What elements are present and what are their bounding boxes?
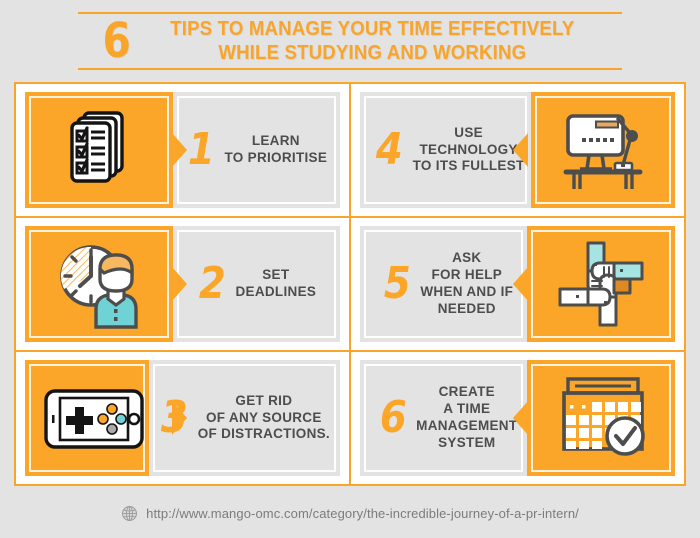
tip-card-3[interactable]: 3 GET RID OF ANY SOURCE OF DISTRACTIONS. <box>25 360 340 476</box>
smartphone-game-controller-icon <box>44 375 130 461</box>
tip-card-2-label-line: SET <box>235 267 316 284</box>
tip-card-1-number: 1 <box>184 128 218 172</box>
tip-card-2-icon-panel <box>25 226 173 342</box>
header-big-number: 6 <box>103 17 131 65</box>
tip-card-4-text-panel: 4 USE TECHNOLOGY TO ITS FULLEST <box>360 92 531 208</box>
tip-card-6-icon-panel <box>527 360 675 476</box>
tip-card-6-text-panel: 6 CREATE A TIME MANAGEMENT SYSTEM <box>360 360 527 476</box>
grid-cell: 2 SET DEADLINES <box>16 218 349 350</box>
grid-cell: 4 USE TECHNOLOGY TO ITS FULLEST <box>351 84 684 216</box>
tip-card-1-label-line: TO PRIORITISE <box>225 150 328 167</box>
tip-card-5-icon-panel <box>527 226 675 342</box>
tip-card-6-label-line: CREATE <box>416 384 517 401</box>
tip-card-4-number: 4 <box>372 128 406 172</box>
tip-card-1-text-panel: 1 LEARN TO PRIORITISE <box>173 92 340 208</box>
tip-card-2-labels: SET DEADLINES <box>231 267 316 301</box>
tip-card-2-text-panel: 2 SET DEADLINES <box>173 226 340 342</box>
tip-card-3-label-line: GET RID <box>198 393 330 410</box>
tip-card-6-label-line: SYSTEM <box>416 435 517 452</box>
footer: http://www.mango-omc.com/category/the-in… <box>0 498 700 528</box>
tip-card-5-label-line: ASK <box>420 250 513 267</box>
tip-card-4-label-line: TO ITS FULLEST <box>413 158 525 175</box>
tip-card-1-icon-panel <box>25 92 173 208</box>
tip-card-1-labels: LEARN TO PRIORITISE <box>221 133 328 167</box>
infographic-header: 6 TIPS TO MANAGE YOUR TIME EFFECTIVELY W… <box>78 12 622 70</box>
tip-card-1-chevron-icon <box>172 133 187 167</box>
grid-cell: 3 GET RID OF ANY SOURCE OF DISTRACTIONS. <box>16 352 349 484</box>
tip-card-5-number: 5 <box>380 262 414 306</box>
desktop-computer-desk-lamp-icon <box>560 107 646 193</box>
tip-card-2-number: 2 <box>195 262 229 306</box>
tip-card-4-chevron-icon <box>513 133 528 167</box>
grid-cell: 6 CREATE A TIME MANAGEMENT SYSTEM <box>351 352 684 484</box>
tip-card-2[interactable]: 2 SET DEADLINES <box>25 226 340 342</box>
tips-grid: 1 LEARN TO PRIORITISE <box>14 82 686 486</box>
tip-card-6-label-line: MANAGEMENT <box>416 418 517 435</box>
tip-card-4-label-line: USE <box>413 125 525 142</box>
four-interlocking-hands-icon <box>558 241 644 327</box>
tip-card-5[interactable]: 5 ASK FOR HELP WHEN AND IF NEEDED <box>360 226 675 342</box>
header-title-block: TIPS TO MANAGE YOUR TIME EFFECTIVELY WHI… <box>151 17 594 66</box>
tip-card-2-chevron-icon <box>172 267 187 301</box>
tip-card-6-label-line: A TIME <box>416 401 517 418</box>
tip-card-2-label-line: DEADLINES <box>235 284 316 301</box>
tip-card-6-number: 6 <box>376 396 410 440</box>
tip-card-3-chevron-icon <box>172 401 187 435</box>
calendar-checkmark-icon <box>558 375 644 461</box>
tip-card-4-label-line: TECHNOLOGY <box>413 142 525 159</box>
tip-card-5-label-line: NEEDED <box>420 301 513 318</box>
source-url[interactable]: http://www.mango-omc.com/category/the-in… <box>146 506 579 521</box>
tip-card-5-label-line: FOR HELP <box>420 267 513 284</box>
page-title-line-1: TIPS TO MANAGE YOUR TIME EFFECTIVELY <box>167 17 579 41</box>
tip-card-5-label-line: WHEN AND IF <box>420 284 513 301</box>
clock-person-deadline-icon <box>56 241 142 327</box>
tip-card-4-icon-panel <box>531 92 675 208</box>
grid-cell: 5 ASK FOR HELP WHEN AND IF NEEDED <box>351 218 684 350</box>
tip-card-5-labels: ASK FOR HELP WHEN AND IF NEEDED <box>416 250 513 318</box>
tip-card-3-label-line: OF ANY SOURCE <box>198 410 330 427</box>
tip-card-5-chevron-icon <box>513 267 528 301</box>
tip-card-5-text-panel: 5 ASK FOR HELP WHEN AND IF NEEDED <box>360 226 527 342</box>
globe-icon <box>121 505 138 522</box>
grid-cell: 1 LEARN TO PRIORITISE <box>16 84 349 216</box>
page-title-line-2: WHILE STUDYING AND WORKING <box>167 41 579 65</box>
tip-card-3-labels: GET RID OF ANY SOURCE OF DISTRACTIONS. <box>194 393 330 444</box>
tip-card-1-label-line: LEARN <box>225 133 328 150</box>
tip-card-6[interactable]: 6 CREATE A TIME MANAGEMENT SYSTEM <box>360 360 675 476</box>
tip-card-3-label-line: OF DISTRACTIONS. <box>198 426 330 443</box>
checklist-documents-icon <box>56 107 142 193</box>
tip-card-4[interactable]: 4 USE TECHNOLOGY TO ITS FULLEST <box>360 92 675 208</box>
tip-card-4-labels: USE TECHNOLOGY TO ITS FULLEST <box>409 125 525 176</box>
tip-card-1[interactable]: 1 LEARN TO PRIORITISE <box>25 92 340 208</box>
tip-card-3-icon-panel <box>25 360 149 476</box>
tip-card-6-labels: CREATE A TIME MANAGEMENT SYSTEM <box>412 384 517 452</box>
tip-card-6-chevron-icon <box>513 401 528 435</box>
